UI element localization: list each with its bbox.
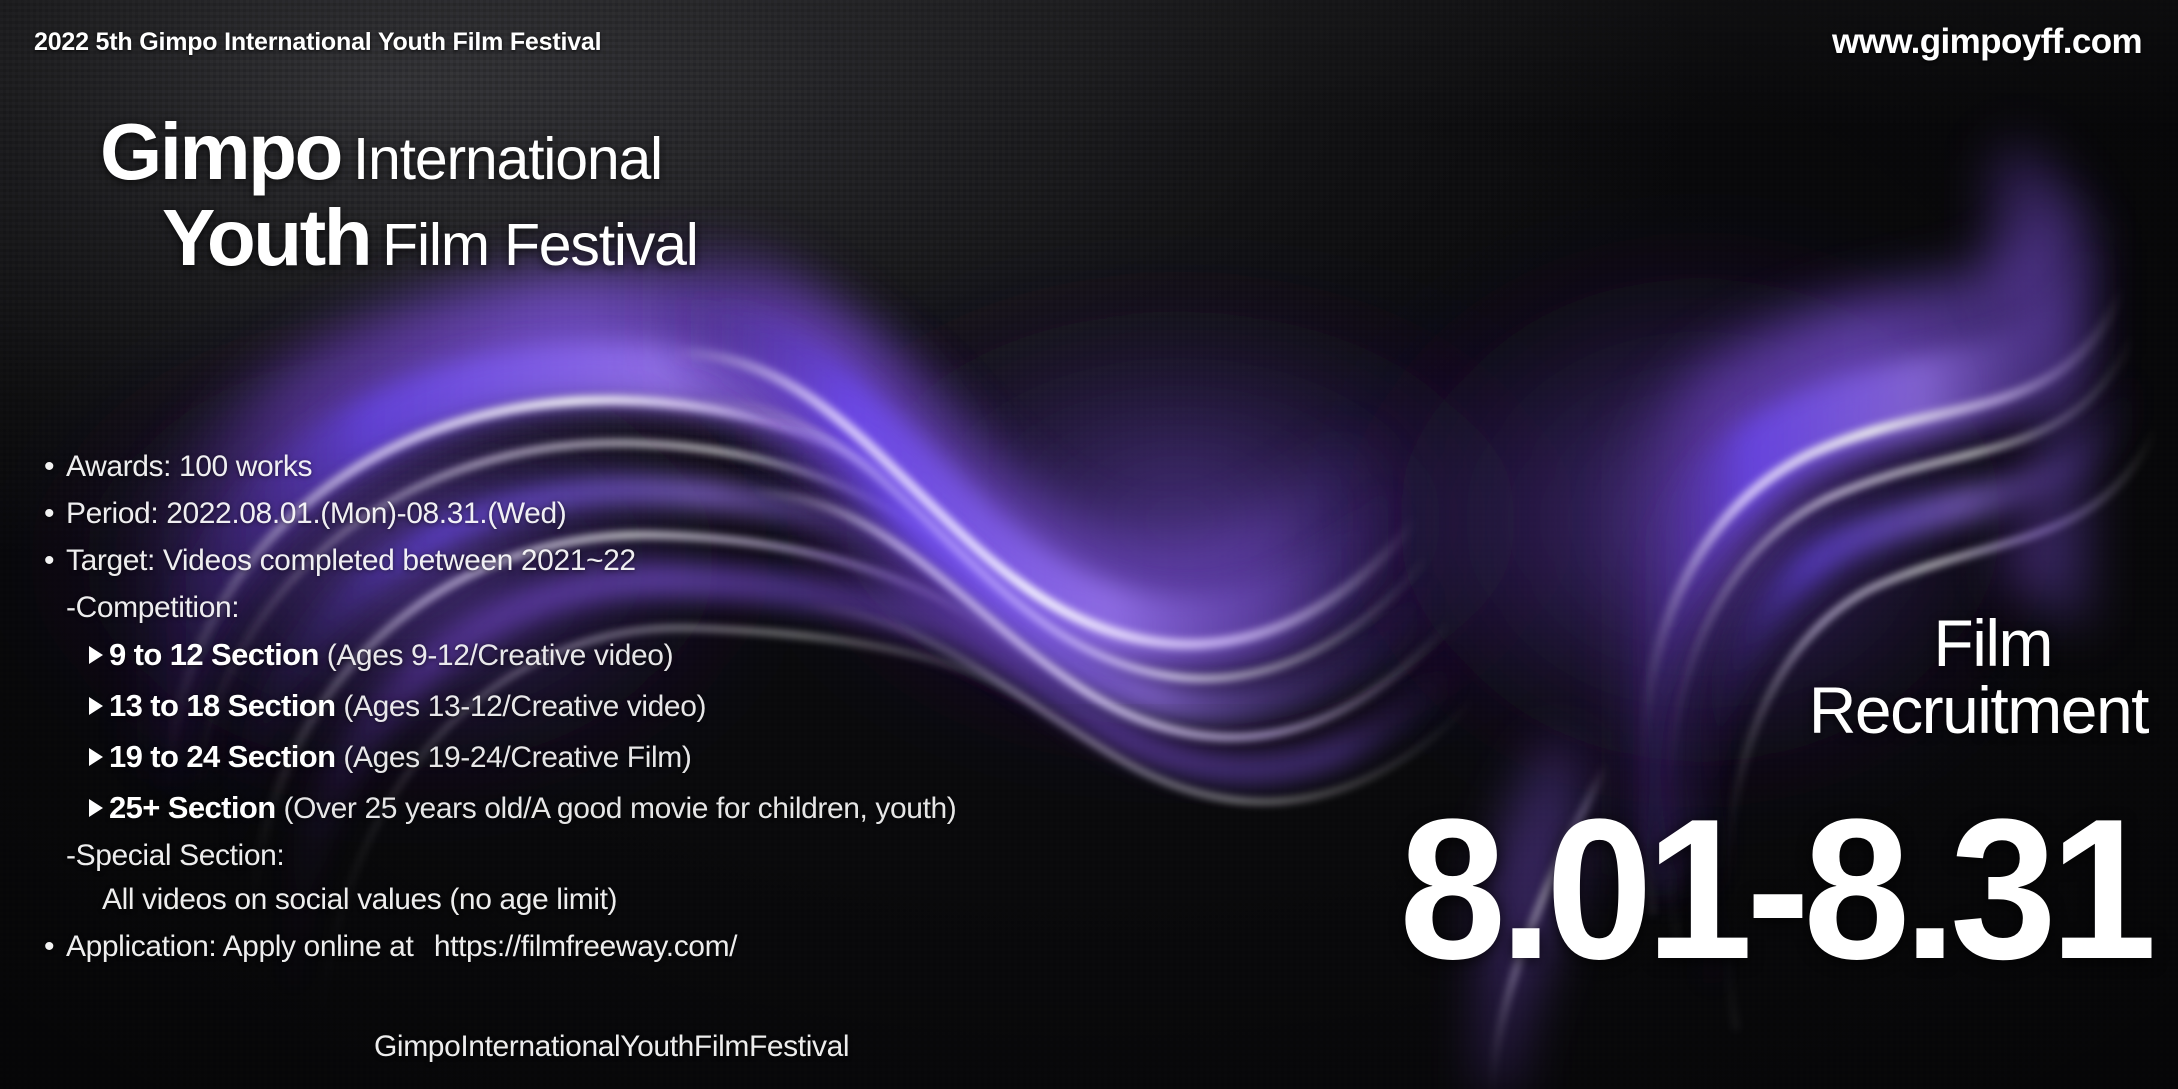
section-name: 9 to 12 Section bbox=[109, 637, 319, 672]
competition-section-25plus: 25+ Section (Over 25 years old/A good mo… bbox=[44, 790, 1094, 826]
competition-section-9-12: 9 to 12 Section (Ages 9-12/Creative vide… bbox=[44, 637, 1094, 673]
special-section-heading: -Special Section: bbox=[44, 841, 1094, 871]
festival-details-list: Awards: 100 works Period: 2022.08.01.(Mo… bbox=[44, 452, 1094, 979]
triangle-bullet-icon bbox=[89, 697, 103, 715]
triangle-bullet-icon bbox=[89, 799, 103, 817]
festival-website-url[interactable]: www.gimpoyff.com bbox=[1832, 22, 2142, 62]
poster-canvas: 2022 5th Gimpo International Youth Film … bbox=[0, 0, 2178, 1089]
page-title: GimpoInternational YouthFilm Festival bbox=[100, 112, 698, 278]
festival-edition-title: 2022 5th Gimpo International Youth Film … bbox=[34, 28, 601, 57]
special-section-body: All videos on social values (no age limi… bbox=[44, 885, 1094, 915]
title-international: International bbox=[353, 126, 662, 192]
title-gimpo: Gimpo bbox=[100, 107, 341, 196]
triangle-bullet-icon bbox=[89, 646, 103, 664]
competition-heading: -Competition: bbox=[44, 593, 1094, 623]
section-description: (Over 25 years old/A good movie for chil… bbox=[284, 792, 957, 825]
title-youth: Youth bbox=[162, 193, 370, 282]
recruitment-date-range: 8.01-8.31 bbox=[1399, 790, 2150, 990]
title-line-2: YouthFilm Festival bbox=[100, 198, 698, 278]
section-description: (Ages 13-12/Creative video) bbox=[343, 690, 706, 723]
competition-section-13-18: 13 to 18 Section (Ages 13-12/Creative vi… bbox=[44, 688, 1094, 724]
application-url-line-2[interactable]: GimpoInternationalYouthFilmFestival bbox=[374, 1030, 849, 1064]
section-description: (Ages 19-24/Creative Film) bbox=[343, 741, 691, 774]
competition-section-19-24: 19 to 24 Section (Ages 19-24/Creative Fi… bbox=[44, 739, 1094, 775]
section-name: 13 to 18 Section bbox=[109, 688, 335, 723]
detail-application: Application: Apply online at bbox=[44, 932, 413, 962]
detail-target: Target: Videos completed between 2021~22 bbox=[44, 546, 1094, 576]
title-film-festival: Film Festival bbox=[382, 212, 697, 278]
detail-awards: Awards: 100 works bbox=[44, 452, 1094, 482]
title-line-1: GimpoInternational bbox=[100, 112, 698, 192]
application-url-line-1[interactable]: https://filmfreeway.com/ bbox=[434, 932, 737, 962]
recruitment-line-2: Recruitment bbox=[1809, 679, 2148, 742]
recruitment-line-1: Film bbox=[1809, 612, 2148, 675]
recruitment-heading: Film Recruitment bbox=[1809, 612, 2148, 743]
header-bar: 2022 5th Gimpo International Youth Film … bbox=[0, 0, 2178, 84]
detail-period: Period: 2022.08.01.(Mon)-08.31.(Wed) bbox=[44, 499, 1094, 529]
section-name: 19 to 24 Section bbox=[109, 739, 335, 774]
triangle-bullet-icon bbox=[89, 748, 103, 766]
section-name: 25+ Section bbox=[109, 790, 276, 825]
section-description: (Ages 9-12/Creative video) bbox=[327, 639, 673, 672]
